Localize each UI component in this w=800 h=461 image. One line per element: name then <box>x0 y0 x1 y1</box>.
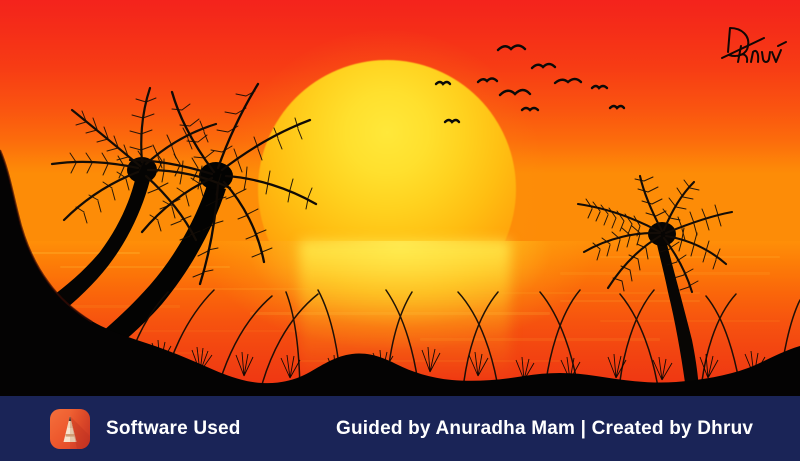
sketchbook-app-icon <box>50 409 90 449</box>
foreground-ground <box>0 0 800 400</box>
caption-bar: Software Used Guided by Anuradha Mam | C… <box>0 396 800 461</box>
credit-text: Guided by Anuradha Mam | Created by Dhru… <box>336 418 753 440</box>
pencil-icon <box>50 409 90 449</box>
software-used-label: Software Used <box>106 418 241 440</box>
artist-signature <box>718 22 788 70</box>
artwork-image <box>0 0 800 400</box>
screenshot-canvas: Software Used Guided by Anuradha Mam | C… <box>0 0 800 461</box>
